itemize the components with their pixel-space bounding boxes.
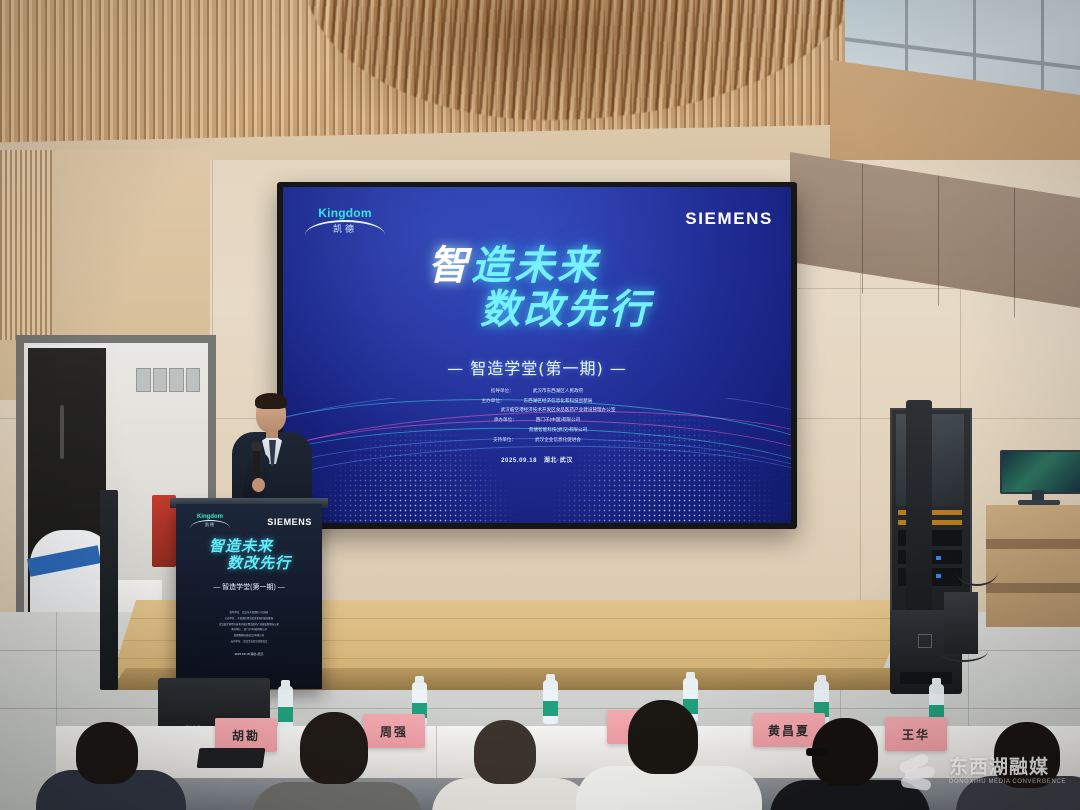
notice-board [136, 368, 200, 408]
microphone-head [251, 442, 262, 451]
door-handle[interactable] [60, 405, 64, 459]
podium-kingdom-cn: 凯德 [186, 523, 234, 527]
podium-kingdom-logo: Kingdom 凯德 [186, 514, 234, 527]
av-cable [938, 640, 988, 662]
table-folder [197, 748, 266, 768]
conference-hall-photo: Kingdom 凯德 SIEMENS 智造未来 数改先行 — 智造学堂(第一期)… [0, 0, 1080, 810]
podium-organizer-line: 支持单位： 武汉企业信息化促进会 [231, 639, 268, 645]
speaker-hair [255, 393, 287, 409]
watermark-chinese: 东西湖融媒 [949, 758, 1066, 777]
organizer-row-cont: 武汉临空港经济技术开发区食品医药产业建设管理办公室 [459, 406, 616, 415]
organizer-row: 支持单位： 武汉企业信息化促进会 [493, 436, 581, 445]
podium-date-line: 2025.09.18 湖北·武汉 [176, 652, 322, 656]
organizer-value: 武汉临空港经济技术开发区食品医药产业建设管理办公室 [501, 406, 616, 415]
organizer-value: 东西湖区经济信息化和科技创新局 [524, 397, 593, 406]
kingdom-logo: Kingdom 凯德 [301, 207, 389, 234]
organizer-row-cont: 凯德智能科技(武汉)有限公司 [487, 426, 587, 435]
organizer-row: 主办单位： 东西湖区经济信息化和科技创新局 [482, 397, 593, 406]
podium-organizer-block: 指导单位： 武汉市东西湖区人民政府 主办单位： 东西湖区经济信息化和科技创新局 … [176, 610, 322, 645]
slide-subtitle: — 智造学堂(第一期) — [283, 355, 791, 379]
event-date-location: 2025.09.18 湖北·武汉 [283, 455, 791, 464]
podium-subtitle: — 智造学堂(第一期) — [176, 582, 322, 592]
av-cable [956, 556, 998, 586]
podium-siemens-logo: SIEMENS [267, 517, 312, 527]
audience-head [76, 722, 138, 784]
speaker-hand [252, 478, 265, 492]
podium-headline-line-1: 智造未来 [160, 538, 322, 555]
watermark-english: DONGXIHU MEDIA CONVERGENCE [949, 779, 1066, 785]
headline-line-1: 智造未来 [283, 245, 791, 287]
event-location: 湖北·武汉 [544, 458, 573, 464]
headline-lead-char: 智 [428, 243, 471, 289]
line-array-speaker-left [100, 490, 118, 690]
subwoofer-port [900, 672, 952, 684]
siemens-logo: SIEMENS [685, 209, 773, 229]
organizer-label: 支持单位： [493, 436, 531, 445]
name-card: 胡勘 [215, 718, 277, 752]
monitor-base [1018, 500, 1060, 505]
podium-headline: 智造未来 数改先行 [176, 538, 322, 571]
led-presentation-screen: Kingdom 凯德 SIEMENS 智造未来 数改先行 — 智造学堂(第一期)… [283, 187, 791, 523]
organizer-label: 指导单位： [491, 387, 529, 396]
eyeglasses-temple [806, 748, 828, 756]
water-bottle [278, 686, 293, 730]
podium-kingdom-en: Kingdom [186, 514, 234, 520]
slide-headline: 智造未来 数改先行 [283, 245, 791, 332]
kingdom-logo-en: Kingdom [301, 207, 389, 219]
podium-headline-line-2: 数改先行 [196, 555, 322, 572]
organizer-value: 武汉企业信息化促进会 [535, 436, 581, 445]
headline-line-1-rest: 造未来 [471, 243, 600, 289]
broadcaster-watermark: 东西湖融媒 DONGXIHU MEDIA CONVERGENCE [897, 750, 1066, 792]
water-bottle [543, 680, 558, 724]
organizer-value: 西门子(中国)有限公司 [536, 416, 580, 425]
audience-head [628, 700, 698, 774]
event-date: 2025.09.18 [501, 458, 537, 464]
watermark-text: 东西湖融媒 DONGXIHU MEDIA CONVERGENCE [949, 758, 1066, 785]
podium-panel: Kingdom 凯德 SIEMENS 智造未来 数改先行 — 智造学堂(第一期)… [176, 504, 322, 689]
left-wall-slats [0, 150, 52, 340]
control-monitor[interactable] [1000, 450, 1080, 494]
monitor-wallpaper [1002, 452, 1080, 492]
organizer-row: 指导单位： 武汉市东西湖区人民政府 [491, 387, 584, 396]
name-card: 王华 [885, 717, 947, 751]
organizer-row: 承办单位： 西门子(中国)有限公司 [494, 416, 580, 425]
line-array-speaker-right [906, 400, 932, 625]
audience-head [300, 712, 368, 784]
audience-shoulders [252, 782, 422, 810]
organizer-value: 凯德智能科技(武汉)有限公司 [529, 426, 587, 435]
wing-swoosh-logo-icon [897, 750, 943, 792]
audience-head [474, 720, 536, 784]
organizer-label: 承办单位： [494, 416, 532, 425]
headline-line-2: 数改先行 [341, 289, 791, 331]
subwoofer-badge [918, 634, 932, 648]
name-card: 周强 [363, 714, 425, 748]
organizer-label: 主办单位： [482, 397, 520, 406]
kingdom-logo-cn: 凯德 [301, 225, 389, 234]
organizer-value: 武汉市东西湖区人民政府 [533, 387, 584, 396]
organizer-block: 指导单位： 武汉市东西湖区人民政府 主办单位： 东西湖区经济信息化和科技创新局 … [283, 387, 791, 444]
side-credenza [986, 505, 1080, 627]
